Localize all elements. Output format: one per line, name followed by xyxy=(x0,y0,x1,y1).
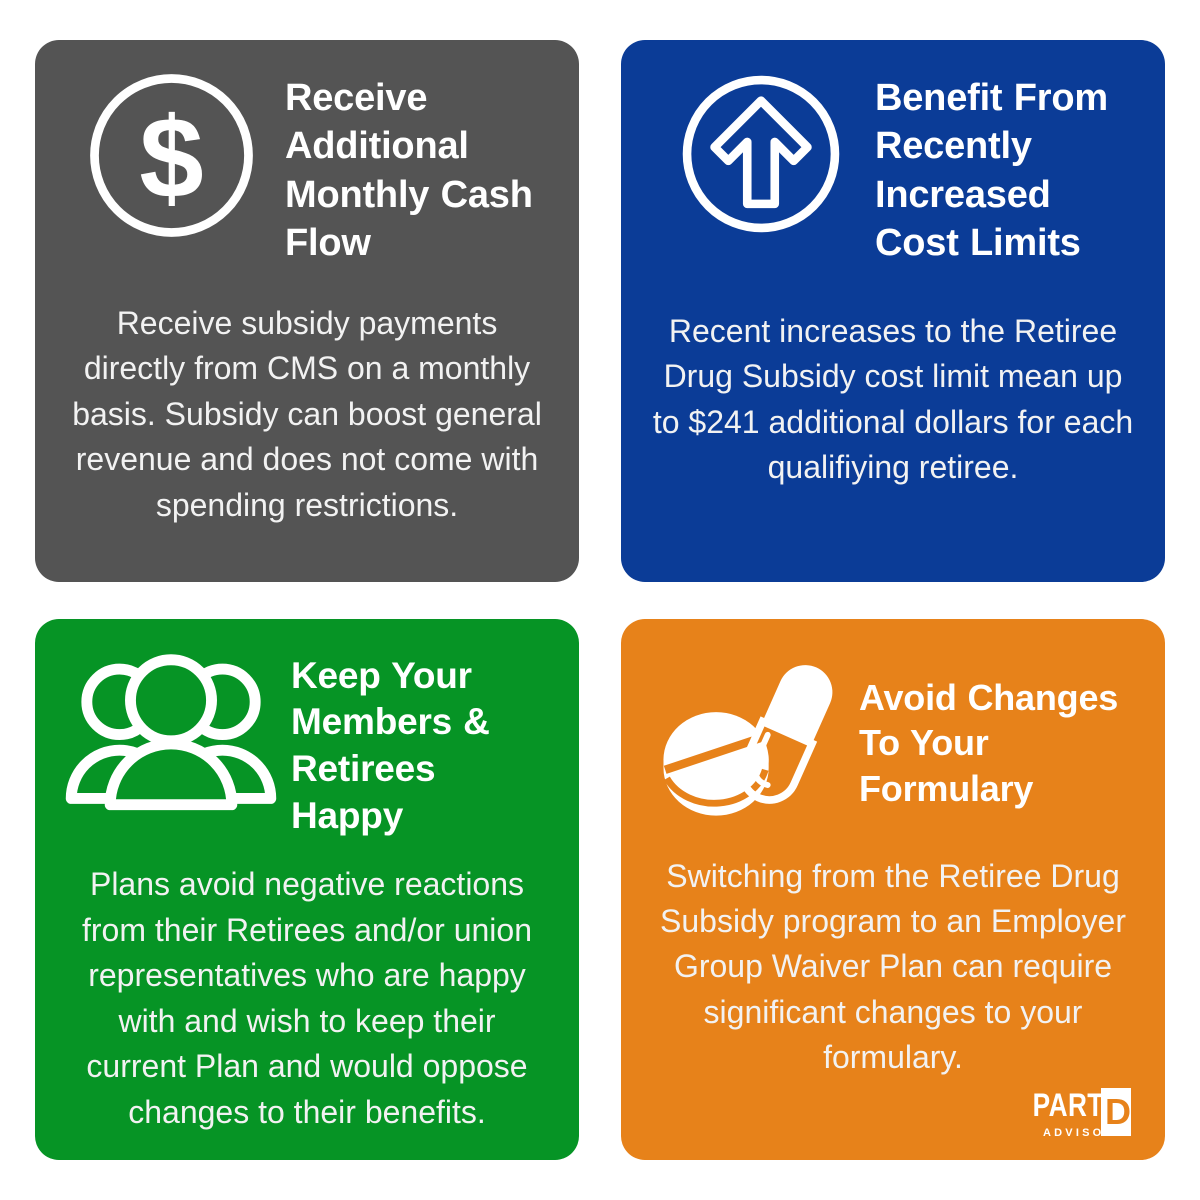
card-body-text: Recent increases to the Retiree Drug Sub… xyxy=(647,309,1139,491)
card-body-text: Switching from the Retiree Drug Subsidy … xyxy=(647,854,1139,1081)
card-title: Receive Additional Monthly Cash Flow xyxy=(285,62,553,267)
card-header: $ Receive Additional Monthly Cash Flow xyxy=(61,62,553,267)
card-title: Avoid Changes To Your Formulary xyxy=(859,641,1139,812)
card-title: Benefit From Recently Increased Cost Lim… xyxy=(875,62,1139,267)
card-body-text: Receive subsidy payments directly from C… xyxy=(61,301,553,528)
card-title: Keep Your Members & Retirees Happy xyxy=(291,641,553,841)
brand-word: PART xyxy=(1033,1089,1104,1124)
card-members-happy: Keep Your Members & Retirees Happy Plans… xyxy=(35,619,579,1161)
brand-tagline: ADVISORS xyxy=(1043,1127,1126,1139)
card-body-text: Plans avoid negative reactions from thei… xyxy=(61,862,553,1135)
card-formulary: Avoid Changes To Your Formulary Switchin… xyxy=(621,619,1165,1161)
infographic-board: $ Receive Additional Monthly Cash Flow R… xyxy=(0,0,1200,1200)
card-cost-limits: Benefit From Recently Increased Cost Lim… xyxy=(621,40,1165,582)
card-cash-flow: $ Receive Additional Monthly Cash Flow R… xyxy=(35,40,579,582)
card-header: Benefit From Recently Increased Cost Lim… xyxy=(647,62,1139,267)
brand-letter: D xyxy=(1105,1091,1131,1132)
svg-text:$: $ xyxy=(139,94,203,223)
part-d-advisors-logo: PART D ADVISORS xyxy=(1031,1082,1135,1144)
people-group-icon xyxy=(65,641,277,813)
dollar-circle-icon: $ xyxy=(71,62,271,243)
card-header: Keep Your Members & Retirees Happy xyxy=(61,641,553,841)
card-header: Avoid Changes To Your Formulary xyxy=(647,641,1139,820)
pills-icon xyxy=(655,641,845,820)
up-arrow-circle-icon xyxy=(661,62,861,240)
